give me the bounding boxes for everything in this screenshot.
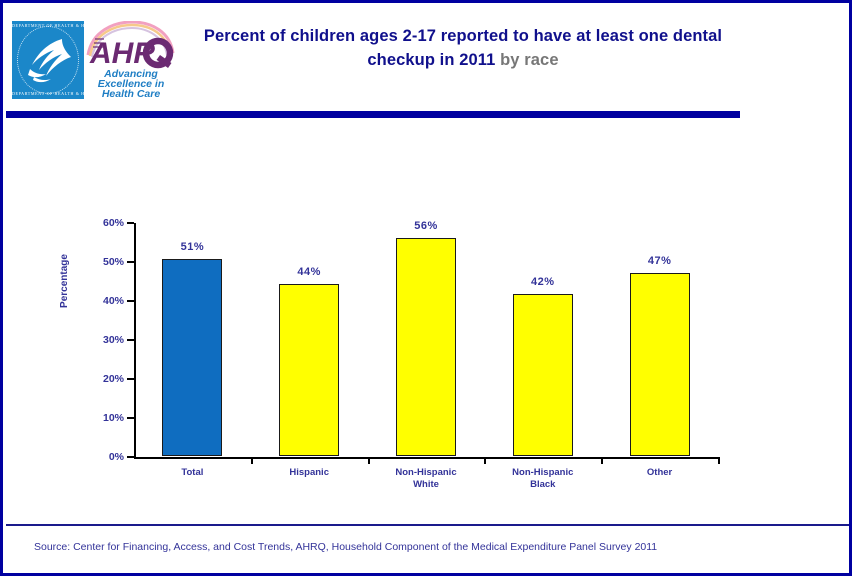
ahrq-wordmark-icon: AHR Advancing Excellence in Health Ca (84, 21, 175, 99)
x-axis-tick (251, 457, 253, 464)
x-axis-tick (368, 457, 370, 464)
y-axis-tick (127, 378, 134, 380)
bar-value-label: 42% (531, 276, 555, 288)
y-axis-tick-label: 60% (103, 217, 124, 229)
hhs-bird-icon (18, 29, 78, 91)
bar[interactable] (396, 238, 456, 456)
y-axis-tick-label: 0% (109, 451, 124, 463)
bar-value-label: 51% (181, 241, 205, 253)
slide-canvas: DEPARTMENT OF HEALTH & HUMAN SERVICES · … (0, 0, 852, 576)
x-axis-category-label: Total (181, 467, 203, 479)
bar-value-label: 56% (414, 220, 438, 232)
y-axis-tick (127, 339, 134, 341)
bar[interactable] (513, 294, 573, 456)
ahrq-logo: AHR Advancing Excellence in Health Ca (84, 21, 175, 99)
header-divider (6, 111, 740, 118)
x-axis-category-label: Non-Hispanic Black (512, 467, 573, 491)
x-axis-category-label: Non-Hispanic White (395, 467, 456, 491)
plot-area: 0%10%20%30%40%50%60% 51%44%56%42%47% Tot… (134, 223, 718, 457)
hhs-seal-top-text: DEPARTMENT OF HEALTH & HUMAN SERVICES · … (12, 23, 84, 28)
bar-value-label: 47% (648, 255, 672, 267)
bar[interactable] (630, 273, 690, 456)
agency-logo-block: DEPARTMENT OF HEALTH & HUMAN SERVICES · … (12, 21, 175, 99)
bar-value-label: 44% (297, 266, 321, 278)
x-axis-category-label: Hispanic (289, 467, 329, 479)
y-axis-tick (127, 417, 134, 419)
page-title: Percent of children ages 2-17 reported t… (183, 25, 743, 73)
y-axis-tick (127, 456, 134, 458)
x-axis-tick (718, 457, 720, 464)
ahrq-tagline-line3: Health Care (102, 88, 161, 99)
hhs-seal-bottom-text: DEPARTMENT OF HEALTH & HUMAN SERVICES (12, 91, 84, 96)
bar-chart: Percentage 0%10%20%30%40%50%60% 51%44%56… (3, 123, 849, 523)
y-axis-tick-label: 20% (103, 373, 124, 385)
y-axis-tick (127, 261, 134, 263)
footer-divider (6, 524, 852, 526)
hhs-seal-logo: DEPARTMENT OF HEALTH & HUMAN SERVICES · … (12, 21, 84, 99)
y-axis-tick (127, 300, 134, 302)
y-axis-tick-label: 50% (103, 256, 124, 268)
page-title-suffix: by race (500, 51, 559, 69)
y-axis-tick (127, 222, 134, 224)
bar[interactable] (162, 259, 222, 456)
x-axis-line (134, 457, 719, 459)
page-title-main: Percent of children ages 2-17 reported t… (204, 27, 722, 69)
slide-header: DEPARTMENT OF HEALTH & HUMAN SERVICES · … (3, 3, 849, 107)
x-axis-tick (484, 457, 486, 464)
y-axis-line (134, 223, 136, 458)
y-axis-tick-label: 10% (103, 412, 124, 424)
x-axis-tick (601, 457, 603, 464)
x-axis-category-label: Other (647, 467, 672, 479)
source-note: Source: Center for Financing, Access, an… (34, 541, 657, 553)
bar[interactable] (279, 284, 339, 456)
y-axis-tick-label: 40% (103, 295, 124, 307)
y-axis-title: Percentage (59, 236, 70, 326)
y-axis-tick-label: 30% (103, 334, 124, 346)
